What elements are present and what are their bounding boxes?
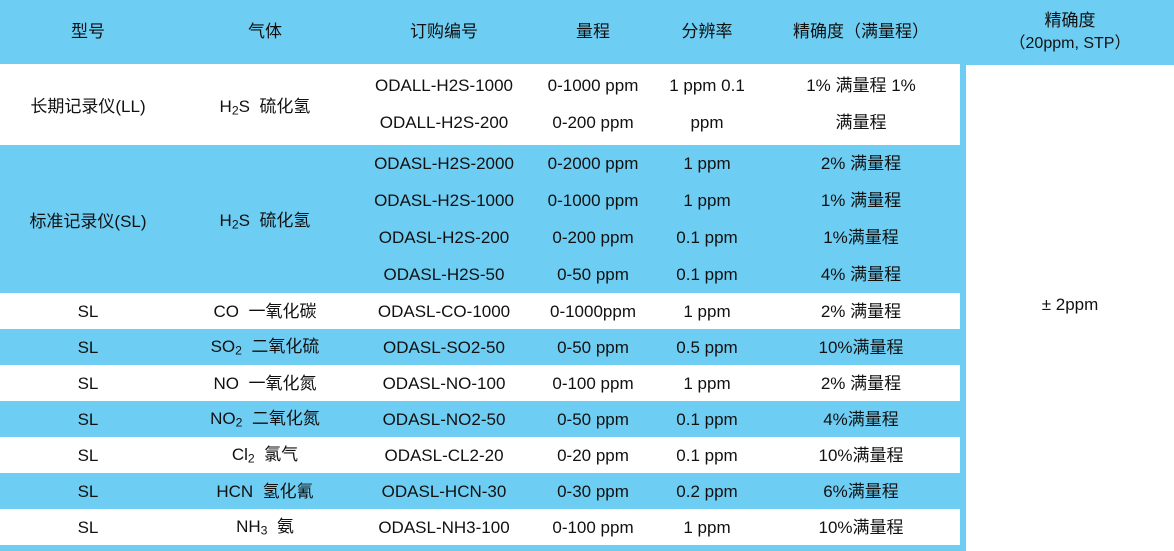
cell-gas: NH3 氨 [176, 516, 354, 539]
cell-range: 0-100 ppm [534, 373, 652, 394]
table-row: SLSO2 二氧化硫ODASL-SO2-500-50 ppm0.5 ppm10%… [0, 329, 960, 365]
accuracy-stp-header-line2: （20ppm, STP） [1010, 33, 1131, 55]
gas-name: 氯气 [264, 445, 298, 464]
gas-name: 氨 [277, 517, 294, 536]
table-row: SLNO2 二氧化氮ODASL-NO2-500-50 ppm0.1 ppm4%满… [0, 401, 960, 437]
column-header-resolution: 分辨率 [652, 21, 762, 42]
cell-gas: NO2 二氧化氮 [176, 408, 354, 431]
cell-gas: NO 一氧化氮 [176, 373, 354, 394]
cell-resolution: 1 ppm [652, 153, 762, 174]
cell-order-number: ODASL-H2S-1000 [354, 190, 534, 211]
cell-model: SL [0, 409, 176, 430]
column-header-model: 型号 [0, 21, 176, 42]
gas-formula: SO [211, 337, 236, 356]
cell-accuracy: 2% 满量程 [762, 153, 960, 174]
cell-range: 0-1000 ppm [534, 75, 652, 96]
column-header-gas: 气体 [176, 21, 354, 42]
cell-range: 0-100 ppm [534, 517, 652, 538]
gas-formula: NO [210, 409, 236, 428]
cell-resolution: ppm [652, 112, 762, 133]
gas-formula-tail: S [239, 211, 250, 230]
cell-accuracy: 满量程 [762, 112, 960, 133]
accuracy-stp-column: 精确度 （20ppm, STP） ± 2ppm [960, 0, 1174, 551]
cell-range: 0-30 ppm [534, 481, 652, 502]
gas-formula-tail: S [239, 97, 250, 116]
table-header-row: 型号 气体 订购编号 量程 分辨率 精确度（满量程） [0, 0, 960, 64]
cell-range: 0-50 ppm [534, 337, 652, 358]
cell-range: 0-2000 ppm [534, 153, 652, 174]
gas-formula: H [220, 97, 232, 116]
cell-model: SL [0, 337, 176, 358]
gas-formula: NO [214, 374, 240, 393]
cell-gas: Cl2 氯气 [176, 444, 354, 467]
cell-order-number: ODASL-NH3-100 [354, 517, 534, 538]
table-row: SLCO 一氧化碳ODASL-CO-10000-1000ppm1 ppm2% 满… [0, 293, 960, 329]
group-model-label: 标准记录仪(SL) [0, 145, 176, 293]
cell-resolution: 1 ppm [652, 190, 762, 211]
column-header-range: 量程 [534, 21, 652, 42]
cell-range: 0-50 ppm [534, 409, 652, 430]
cell-range: 0-1000ppm [534, 301, 652, 322]
cell-range: 0-200 ppm [534, 112, 652, 133]
gas-name: 一氧化碳 [248, 302, 316, 321]
table-row: ODASL-H2S-1000 0-1000 ppm 1 ppm 1% 满量程 [354, 182, 960, 219]
gas-name: 硫化氢 [259, 211, 310, 230]
column-header-accuracy-stp: 精确度 （20ppm, STP） [960, 0, 1174, 65]
gas-name: 二氧化硫 [251, 337, 319, 356]
cell-resolution: 1 ppm [652, 517, 762, 538]
gas-formula: HCN [216, 482, 253, 501]
cell-range: 0-200 ppm [534, 227, 652, 248]
gas-formula: CO [214, 302, 240, 321]
table-row: SLNO 一氧化氮ODASL-NO-1000-100 ppm1 ppm2% 满量… [0, 365, 960, 401]
gas-subscript: 2 [248, 451, 255, 465]
group-model-label: 长期记录仪(LL) [0, 64, 176, 145]
cell-order-number: ODASL-NO-100 [354, 373, 534, 394]
cell-accuracy: 4%满量程 [762, 409, 960, 430]
cell-accuracy: 10%满量程 [762, 517, 960, 538]
group-gas-label: H2S 硫化氢 [176, 64, 354, 145]
cell-model: SL [0, 517, 176, 538]
cell-accuracy: 10%满量程 [762, 337, 960, 358]
cell-range: 0-20 ppm [534, 445, 652, 466]
cell-resolution: 0.1 ppm [652, 409, 762, 430]
accuracy-stp-value: ± 2ppm [1042, 295, 1099, 315]
table-row: SLNH3 氨ODASL-NH3-1000-100 ppm1 ppm10%满量程 [0, 509, 960, 545]
cell-accuracy: 6%满量程 [762, 481, 960, 502]
cell-resolution: 0.1 ppm [652, 227, 762, 248]
table-row: ODALL-H2S-200 0-200 ppm ppm 满量程 [354, 104, 960, 141]
cell-accuracy: 1%满量程 [762, 227, 960, 248]
table-row: SLCl2 氯气ODASL-CL2-200-20 ppm0.1 ppm10%满量… [0, 437, 960, 473]
gas-detector-spec-table: 型号 气体 订购编号 量程 分辨率 精确度（满量程） 长期记录仪(LL) H2S… [0, 0, 1174, 551]
accuracy-stp-header-line1: 精确度 [1045, 10, 1096, 33]
cell-resolution: 1 ppm 0.1 [652, 75, 762, 96]
cell-accuracy: 1% 满量程 [762, 190, 960, 211]
table-row: ODASL-H2S-50 0-50 ppm 0.1 ppm 4% 满量程 [354, 256, 960, 293]
cell-resolution: 0.1 ppm [652, 445, 762, 466]
main-columns: 型号 气体 订购编号 量程 分辨率 精确度（满量程） 长期记录仪(LL) H2S… [0, 0, 960, 551]
gas-subscript: 2 [236, 415, 243, 429]
cell-resolution: 1 ppm [652, 373, 762, 394]
gas-formula: NH [236, 517, 261, 536]
cell-gas: SO2 二氧化硫 [176, 336, 354, 359]
gas-name: 一氧化氮 [248, 374, 316, 393]
column-header-order-number: 订购编号 [354, 21, 534, 42]
cell-order-number: ODASL-CO-1000 [354, 301, 534, 322]
cell-order-number: ODASL-CL2-20 [354, 445, 534, 466]
gas-name: 二氧化氮 [252, 409, 320, 428]
gas-subscript: 2 [232, 218, 239, 232]
gas-formula: Cl [232, 445, 248, 464]
cell-range: 0-1000 ppm [534, 190, 652, 211]
cell-model: SL [0, 301, 176, 322]
cell-model: SL [0, 373, 176, 394]
cell-order-number: ODALL-H2S-200 [354, 112, 534, 133]
group-row-long-term-recorder: 长期记录仪(LL) H2S 硫化氢 ODALL-H2S-1000 0-1000 … [0, 64, 960, 145]
cell-order-number: ODASL-HCN-30 [354, 481, 534, 502]
group-sub-rows: ODASL-H2S-2000 0-2000 ppm 1 ppm 2% 满量程 O… [354, 145, 960, 293]
cell-model: SL [0, 481, 176, 502]
gas-formula: H [220, 211, 232, 230]
cell-gas: HCN 氢化氰 [176, 481, 354, 502]
gas-name: 氢化氰 [263, 482, 314, 501]
cell-accuracy: 10%满量程 [762, 445, 960, 466]
table-row: SLHCN 氢化氰ODASL-HCN-300-30 ppm0.2 ppm6%满量… [0, 473, 960, 509]
cell-accuracy: 2% 满量程 [762, 301, 960, 322]
column-header-accuracy-fs: 精确度（满量程） [762, 21, 960, 42]
bottom-divider [0, 545, 960, 551]
cell-resolution: 0.1 ppm [652, 264, 762, 285]
cell-order-number: ODASL-NO2-50 [354, 409, 534, 430]
group-gas-label: H2S 硫化氢 [176, 145, 354, 293]
cell-order-number: ODALL-H2S-1000 [354, 75, 534, 96]
accuracy-stp-body: ± 2ppm [960, 65, 1174, 551]
cell-order-number: ODASL-H2S-50 [354, 264, 534, 285]
table-row: ODALL-H2S-1000 0-1000 ppm 1 ppm 0.1 1% 满… [354, 67, 960, 104]
cell-resolution: 0.5 ppm [652, 337, 762, 358]
cell-resolution: 1 ppm [652, 301, 762, 322]
table-row: ODASL-H2S-2000 0-2000 ppm 1 ppm 2% 满量程 [354, 145, 960, 182]
cell-gas: CO 一氧化碳 [176, 301, 354, 322]
cell-order-number: ODASL-H2S-200 [354, 227, 534, 248]
cell-accuracy: 1% 满量程 1% [762, 75, 960, 96]
gas-subscript: 2 [235, 343, 242, 357]
cell-accuracy: 4% 满量程 [762, 264, 960, 285]
gas-name: 硫化氢 [259, 97, 310, 116]
group-sub-rows: ODALL-H2S-1000 0-1000 ppm 1 ppm 0.1 1% 满… [354, 64, 960, 145]
gas-subscript: 3 [261, 523, 268, 537]
gas-subscript: 2 [232, 103, 239, 117]
cell-order-number: ODASL-SO2-50 [354, 337, 534, 358]
cell-accuracy: 2% 满量程 [762, 373, 960, 394]
table-row: ODASL-H2S-200 0-200 ppm 0.1 ppm 1%满量程 [354, 219, 960, 256]
cell-model: SL [0, 445, 176, 466]
group-row-standard-recorder: 标准记录仪(SL) H2S 硫化氢 ODASL-H2S-2000 0-2000 … [0, 145, 960, 293]
simple-rows-container: SLCO 一氧化碳ODASL-CO-10000-1000ppm1 ppm2% 满… [0, 293, 960, 545]
cell-range: 0-50 ppm [534, 264, 652, 285]
cell-resolution: 0.2 ppm [652, 481, 762, 502]
cell-order-number: ODASL-H2S-2000 [354, 153, 534, 174]
